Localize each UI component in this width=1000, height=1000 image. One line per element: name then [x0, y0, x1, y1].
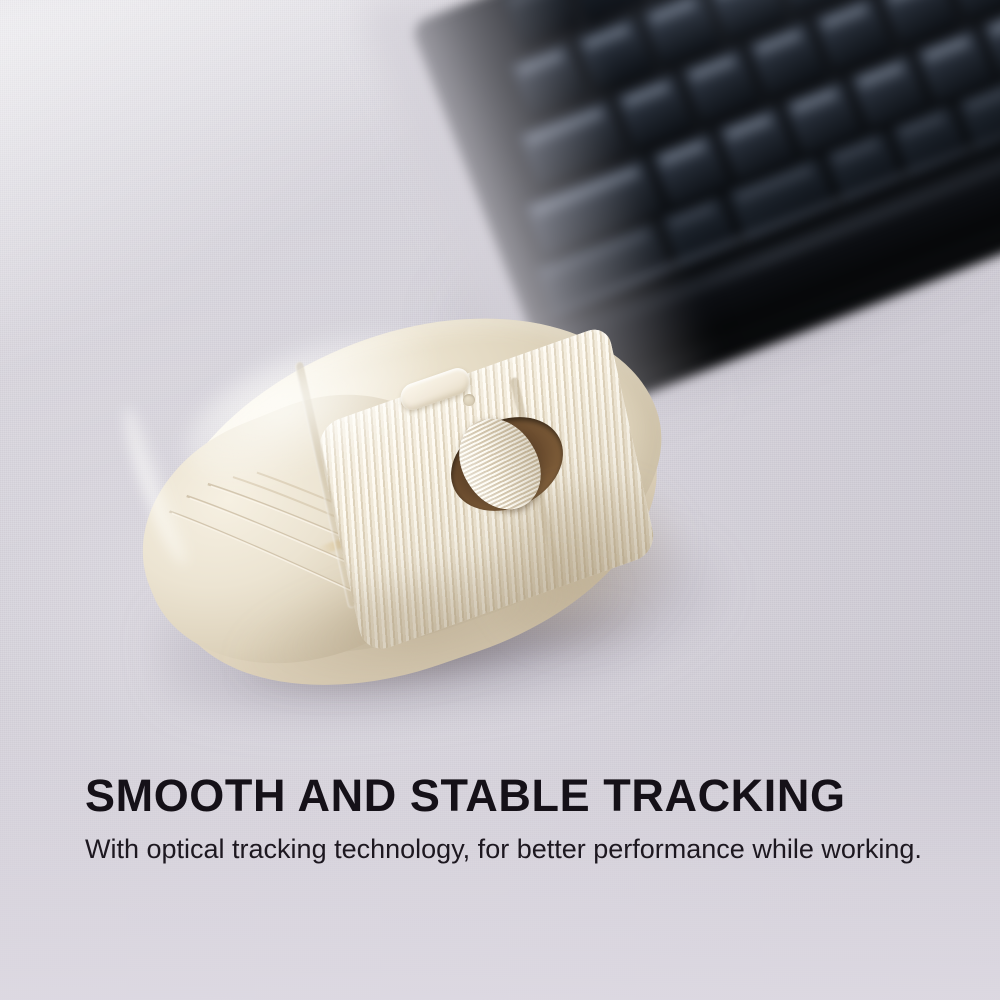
wireless-mouse: [133, 316, 689, 688]
caption-block: SMOOTH AND STABLE TRACKING With optical …: [85, 772, 965, 866]
mouse-dpi-notch: [463, 394, 475, 406]
body-copy: With optical tracking technology, for be…: [85, 833, 945, 866]
headline: SMOOTH AND STABLE TRACKING: [85, 772, 965, 820]
